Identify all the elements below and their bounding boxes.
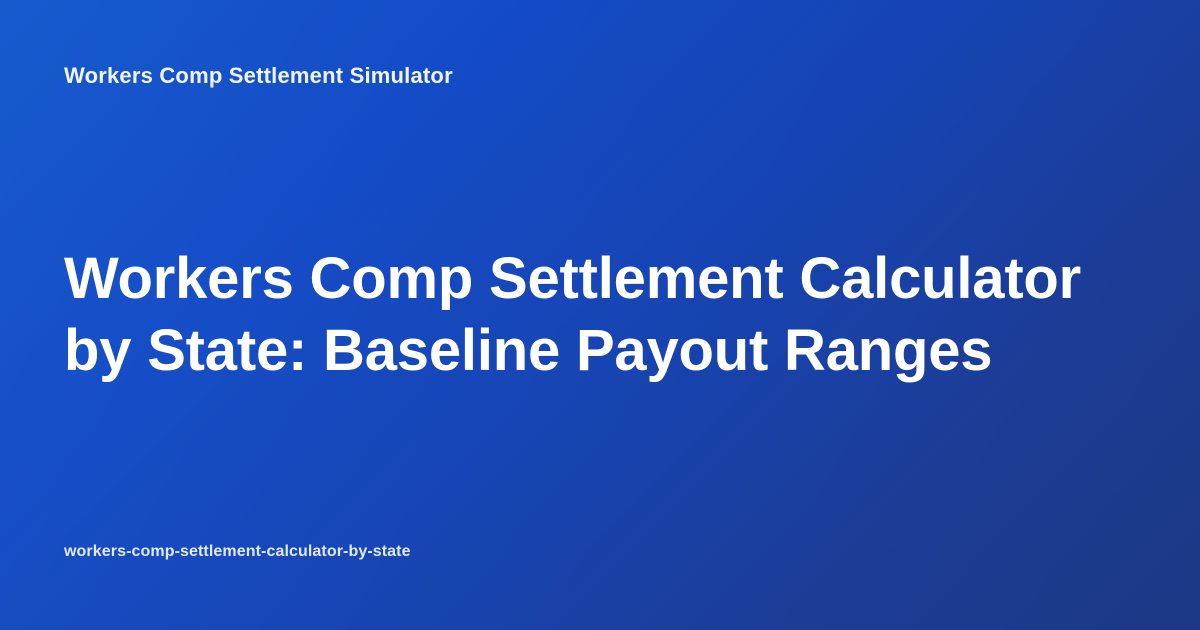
page-title: Workers Comp Settlement Calculator by St… — [64, 243, 1124, 387]
brand-eyebrow: Workers Comp Settlement Simulator — [64, 62, 453, 90]
og-card: Workers Comp Settlement Simulator Worker… — [0, 0, 1200, 630]
page-title-line-2: by State: Baseline Payout Ranges — [64, 315, 1124, 387]
page-slug: workers-comp-settlement-calculator-by-st… — [64, 541, 411, 563]
page-title-line-1: Workers Comp Settlement Calculator — [64, 243, 1124, 315]
